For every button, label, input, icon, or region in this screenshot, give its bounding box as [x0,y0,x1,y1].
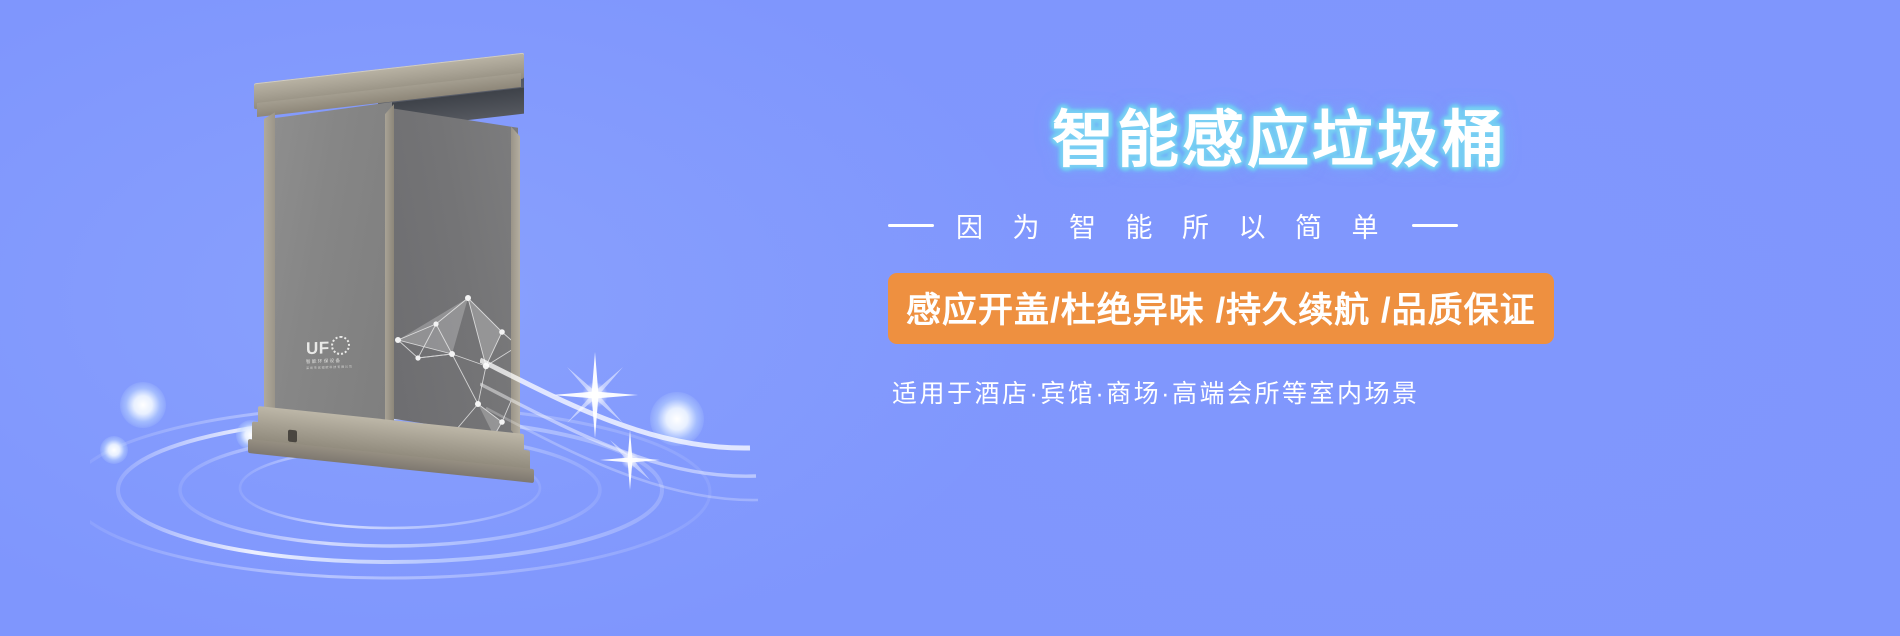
feature-badge: 感应开盖/杜绝异味 /持久续航 /品质保证 [888,273,1554,344]
feature-badge-text: 感应开盖/杜绝异味 /持久续航 /品质保证 [906,291,1536,330]
rule-left [888,224,934,227]
product-image: UF 智能环保设备 深圳市优福欧科技有限公司 [150,40,710,540]
subtitle-row: 因 为 智 能 所 以 简 单 [888,206,1760,245]
bin-sensor-slot [288,430,297,443]
glow-dot [100,436,128,464]
bin-corner-post [385,104,394,442]
brand-logo-sub2: 深圳市优福欧科技有限公司 [306,364,370,371]
subtitle: 因 为 智 能 所 以 简 单 [956,206,1390,245]
light-swoosh [480,330,760,520]
rule-right [1412,224,1458,227]
bin-left-edge-trim [264,102,275,442]
logo-ring-icon [331,336,350,356]
headline-block: 智能感应垃圾桶 因 为 智 能 所 以 简 单 感应开盖/杜绝异味 /持久续航 … [880,110,1760,410]
glow-dot [120,382,166,428]
brand-logo: UF 智能环保设备 深圳市优福欧科技有限公司 [306,335,370,379]
page-title: 智能感应垃圾桶 [1052,110,1760,172]
usage-scenario-text: 适用于酒店·宾馆·商场·高端会所等室内场景 [892,374,1760,410]
brand-logo-text: UF [306,335,370,357]
promo-banner: UF 智能环保设备 深圳市优福欧科技有限公司 [0,0,1900,636]
bin-front-face [268,102,392,442]
